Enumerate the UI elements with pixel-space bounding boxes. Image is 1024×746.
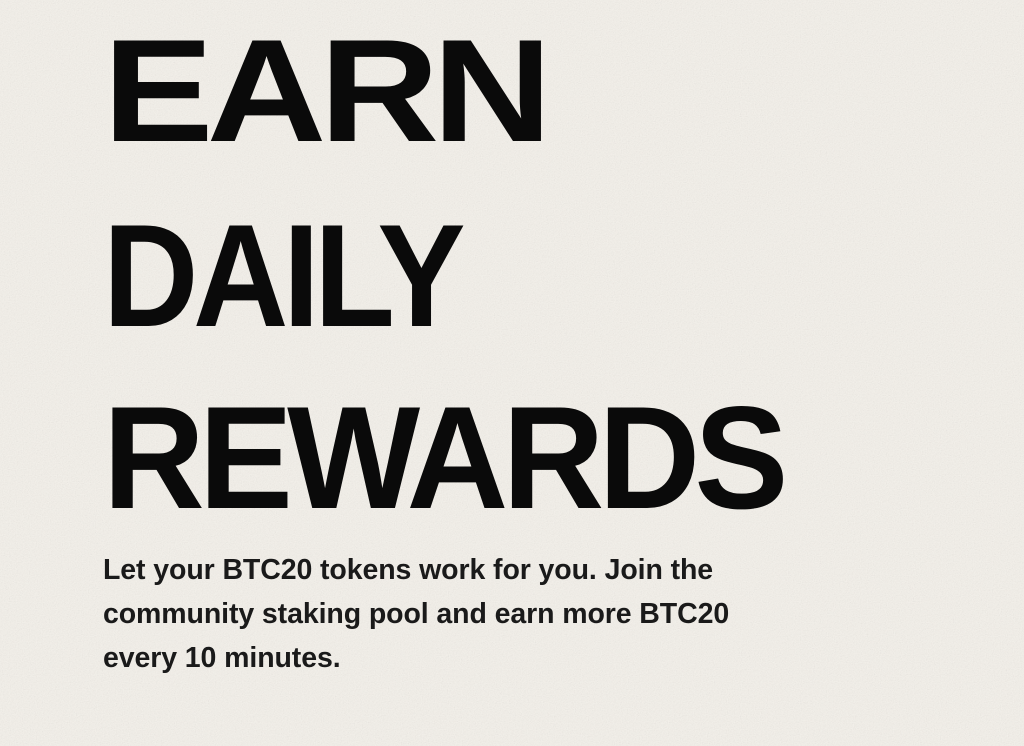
headline-line-earn: EARN [103, 38, 545, 143]
headline-line-daily: DAILY [103, 223, 460, 328]
headline-line-rewards: REWARDS [103, 405, 783, 510]
headline-line-earn-text: EARN [103, 38, 545, 143]
hero-subcopy: Let your BTC20 tokens work for you. Join… [103, 548, 803, 680]
headline-line-rewards-text: REWARDS [103, 405, 783, 510]
headline-line-daily-text: DAILY [103, 223, 460, 328]
hero-section: EARN DAILY REWARDS Let your BTC20 tokens… [0, 0, 1024, 746]
